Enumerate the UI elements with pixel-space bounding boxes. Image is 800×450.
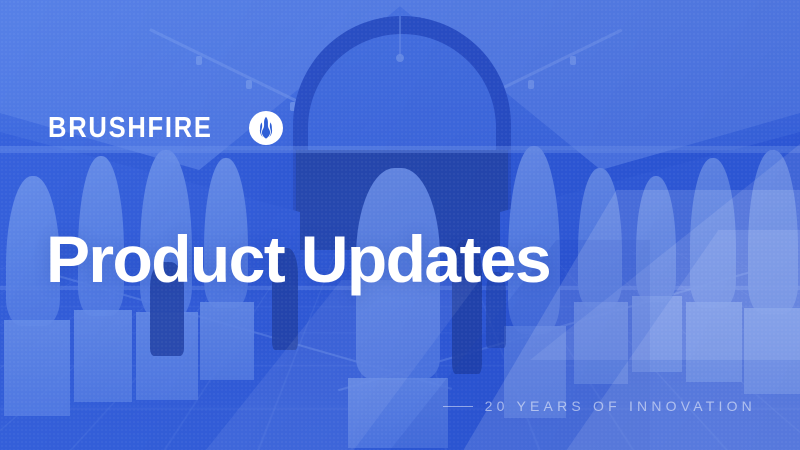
brushfire-wordmark: BRUSHFIRE [48, 114, 213, 143]
product-updates-title-card: BRUSHFIRE Product Updates 20 YEARS OF IN… [0, 0, 800, 450]
anniversary-tagline: 20 YEARS OF INNOVATION [443, 398, 756, 414]
flame-icon [249, 111, 283, 145]
page-title: Product Updates [46, 226, 550, 293]
brushfire-logo[interactable]: BRUSHFIRE [48, 111, 283, 145]
tagline-dash-icon [443, 406, 473, 407]
tagline-text: 20 YEARS OF INNOVATION [485, 398, 756, 414]
content-layer: BRUSHFIRE Product Updates 20 YEARS OF IN… [0, 0, 800, 450]
